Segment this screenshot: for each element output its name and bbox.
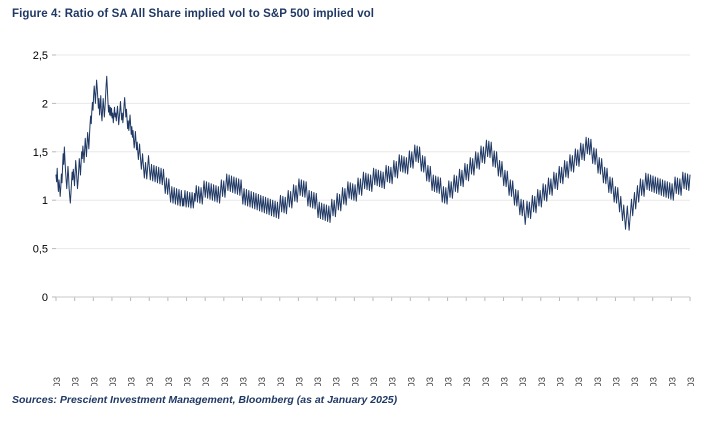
y-axis-labels: 00,511,522,5 — [33, 50, 48, 304]
x-axis-label: 2019/08/03 — [518, 377, 529, 386]
y-axis-label: 1,5 — [33, 147, 48, 159]
x-axis-label: 2016/09/03 — [425, 377, 436, 386]
line-chart: 00,511,522,5 2005/01/032005/08/032006/03… — [0, 30, 720, 386]
figure-source-note: Sources: Prescient Investment Management… — [12, 394, 397, 406]
x-axis-labels: 2005/01/032005/08/032006/03/032006/10/03… — [52, 377, 697, 386]
x-axis-label: 2012/01/03 — [276, 377, 287, 386]
data-series-line — [56, 76, 690, 230]
x-axis-label: 2008/07/03 — [164, 377, 175, 386]
figure-title: Figure 4: Ratio of SA All Share implied … — [12, 8, 374, 20]
x-axis-label: 2024/04/03 — [667, 377, 678, 386]
x-axis-label: 2024/11/03 — [686, 377, 697, 386]
chart-plot-area: 00,511,522,5 2005/01/032005/08/032006/03… — [0, 30, 720, 386]
figure-container: Figure 4: Ratio of SA All Share implied … — [0, 0, 720, 421]
x-axis-label: 2017/04/03 — [444, 377, 455, 386]
x-axis-label: 2014/12/03 — [369, 377, 380, 386]
x-axis-label: 2010/04/03 — [220, 377, 231, 386]
x-axis-label: 2016/02/03 — [406, 377, 417, 386]
y-axis-label: 2,5 — [33, 50, 48, 62]
x-axis-label: 2010/11/03 — [238, 377, 249, 386]
y-axis-label: 1 — [42, 195, 48, 207]
y-axis-label: 2 — [42, 98, 48, 110]
x-axis-label: 2011/06/03 — [257, 377, 268, 386]
y-axis-label: 0,5 — [33, 244, 48, 256]
x-axis-label: 2009/09/03 — [201, 377, 212, 386]
y-axis-label: 0 — [42, 292, 48, 304]
x-axis-label: 2015/07/03 — [388, 377, 399, 386]
x-axis-label: 2013/03/03 — [313, 377, 324, 386]
x-axis-label: 2005/08/03 — [71, 377, 82, 386]
x-axis-label: 2009/02/03 — [183, 377, 194, 386]
x-axis-label: 2020/03/03 — [537, 377, 548, 386]
x-axis-label: 2012/08/03 — [294, 377, 305, 386]
x-axis-label: 2006/10/03 — [108, 377, 119, 386]
y-axis-ticks — [52, 55, 56, 297]
x-axis-label: 2020/10/03 — [555, 377, 566, 386]
x-axis-label: 2007/05/03 — [127, 377, 138, 386]
x-axis-label: 2023/09/03 — [649, 377, 660, 386]
x-axis-label: 2023/02/03 — [630, 377, 641, 386]
x-axis-label: 2021/05/03 — [574, 377, 585, 386]
x-axis-label: 2006/03/03 — [89, 377, 100, 386]
y-gridlines — [56, 55, 690, 249]
x-axis-label: 2021/12/03 — [593, 377, 604, 386]
x-axis-label: 2018/06/03 — [481, 377, 492, 386]
x-axis-ticks — [56, 297, 690, 301]
x-axis-label: 2019/01/03 — [500, 377, 511, 386]
x-axis-label: 2005/01/03 — [52, 377, 63, 386]
x-axis-label: 2014/05/03 — [350, 377, 361, 386]
x-axis-label: 2022/07/03 — [611, 377, 622, 386]
x-axis-label: 2017/11/03 — [462, 377, 473, 386]
x-axis-label: 2007/12/03 — [145, 377, 156, 386]
x-axis-label: 2013/10/03 — [332, 377, 343, 386]
